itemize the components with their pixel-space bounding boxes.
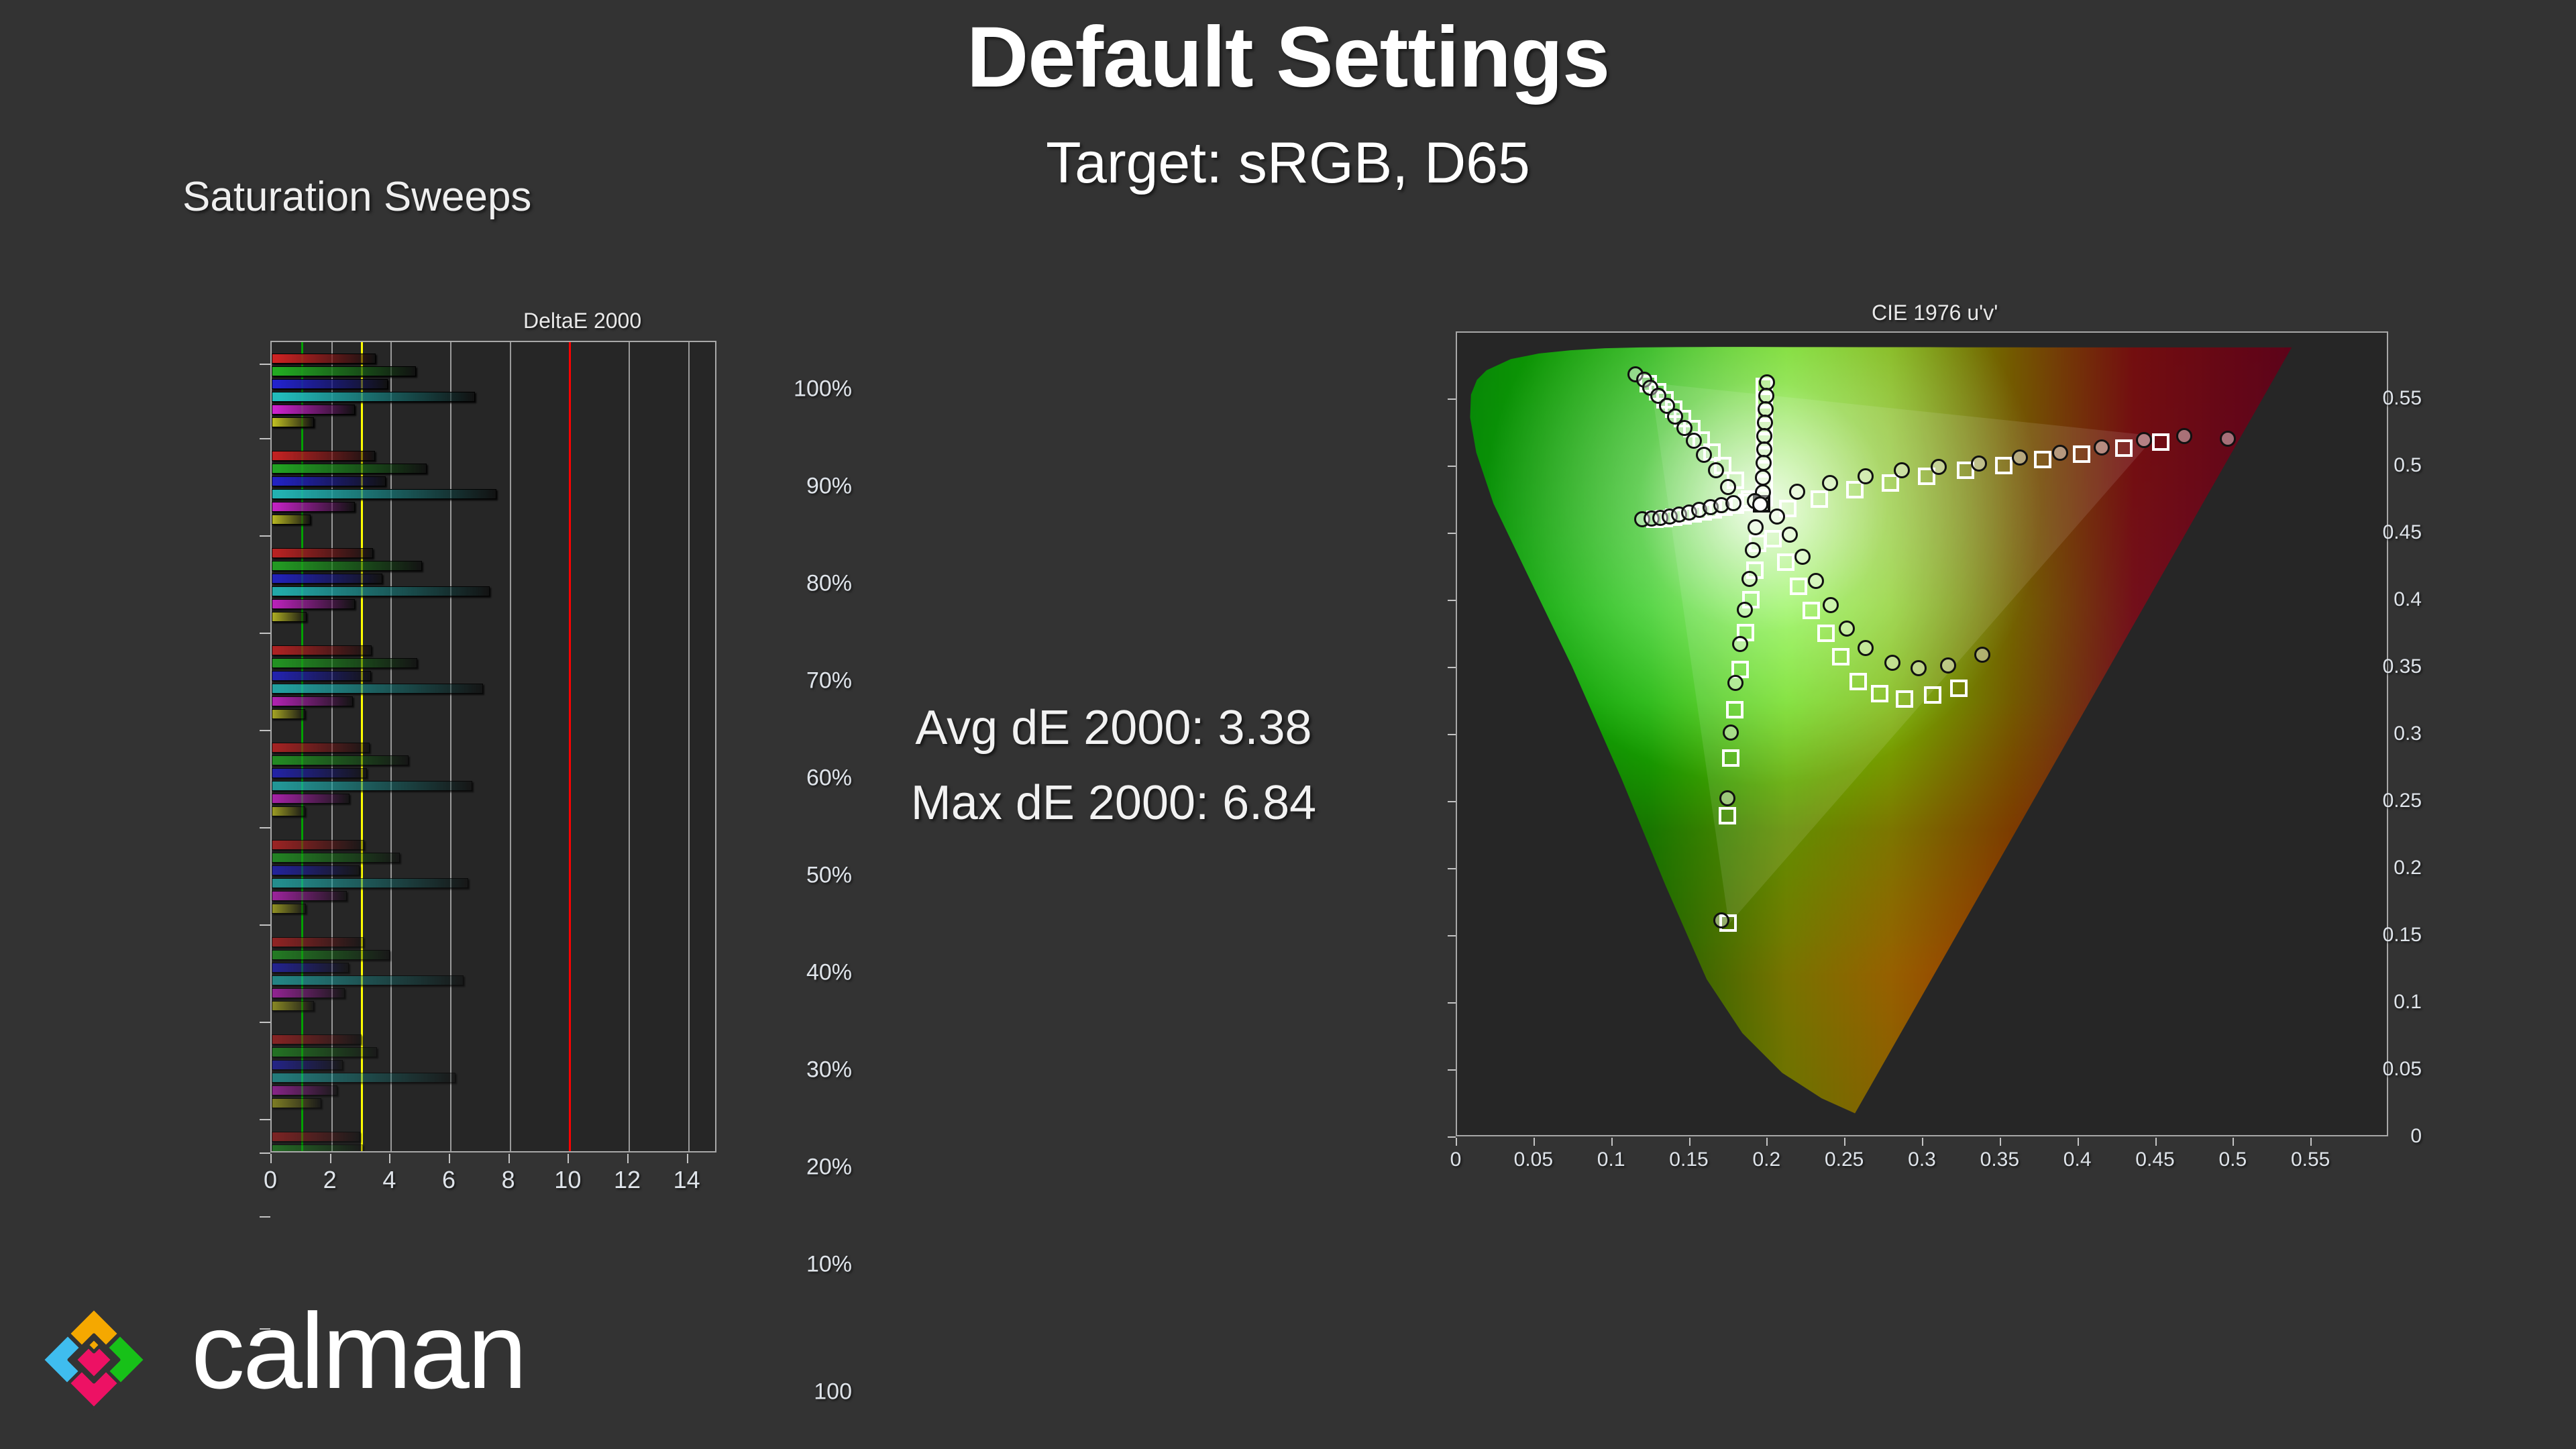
bar-fill — [272, 658, 417, 668]
cie-measured-marker — [1745, 542, 1761, 558]
x-axis-tick — [687, 1154, 688, 1163]
cie-y-label-0.35: 0.35 — [2351, 655, 2422, 678]
x-axis-tick — [389, 1154, 390, 1163]
bar-30pct-yellow — [272, 1098, 321, 1108]
bar-30pct-cyan — [272, 1073, 455, 1083]
cie-measured-marker — [1822, 475, 1838, 491]
bar-90pct-magenta — [272, 502, 355, 512]
bar-80pct-red — [272, 548, 373, 558]
cie-measured-marker — [1971, 455, 1987, 472]
y-axis-label-100: 100 — [773, 1379, 852, 1405]
bar-fill — [272, 1034, 362, 1044]
y-axis-tick — [260, 1119, 270, 1120]
cie-x-label-0.5: 0.5 — [2218, 1148, 2247, 1171]
bar-fill — [272, 417, 314, 427]
bar-80pct-magenta — [272, 599, 355, 609]
cie-y-tick — [1448, 734, 1456, 735]
bar-fill — [272, 853, 400, 863]
page-title: Default Settings — [0, 15, 2576, 101]
cie-measured-marker — [1719, 790, 1735, 806]
bar-80pct-blue — [272, 574, 382, 584]
bar-60pct-cyan — [272, 781, 472, 791]
bar-fill — [272, 768, 367, 778]
bar-30pct-blue — [272, 1060, 343, 1070]
bar-90pct-green — [272, 464, 427, 474]
bar-40pct-yellow — [272, 1001, 314, 1011]
bar-fill — [272, 1060, 343, 1070]
cie-measured-marker — [1713, 912, 1729, 928]
bar-60pct-yellow — [272, 806, 305, 816]
bar-fill — [272, 671, 371, 681]
cie-target-marker — [2115, 439, 2133, 457]
cie-x-label-0.2: 0.2 — [1752, 1148, 1780, 1171]
cie-y-label-0.3: 0.3 — [2351, 722, 2422, 745]
cie-measured-marker — [1808, 573, 1824, 589]
bar-50pct-yellow — [272, 904, 306, 914]
bar-fill — [272, 743, 370, 753]
bar-70pct-magenta — [272, 696, 353, 706]
cie-measured-marker — [1756, 455, 1772, 471]
cie-measured-marker — [1974, 647, 1990, 663]
bar-fill — [272, 574, 382, 584]
bar-70pct-cyan — [272, 684, 483, 694]
bar-70pct-red — [272, 645, 372, 655]
bar-fill — [272, 548, 373, 558]
cie-y-label-0.05: 0.05 — [2351, 1058, 2422, 1081]
y-axis-tick — [260, 364, 270, 365]
cie-x-label-0: 0 — [1450, 1148, 1462, 1171]
bar-fill — [272, 794, 350, 804]
cie-measured-marker — [1782, 527, 1798, 543]
cie-y-tick — [1448, 868, 1456, 869]
bar-fill — [272, 599, 355, 609]
cie-measured-marker — [2052, 445, 2068, 461]
bar-fill — [272, 975, 464, 985]
cie-measured-marker — [1686, 433, 1702, 449]
bar-30pct-magenta — [272, 1085, 337, 1095]
y-axis-tick — [260, 924, 270, 926]
y-axis-label-10pct: 10% — [773, 1252, 852, 1278]
cie-target-marker — [1849, 673, 1867, 690]
bar-fill — [272, 1144, 363, 1152]
cie-y-tick — [1448, 466, 1456, 467]
bar-fill — [272, 891, 347, 901]
bar-100pct-magenta — [272, 405, 355, 415]
cie-chart-title: CIE 1976 u'v' — [1872, 301, 1998, 325]
gridline — [688, 342, 690, 1151]
x-axis-label-14: 14 — [674, 1166, 700, 1194]
cie-x-tick — [2233, 1138, 2234, 1146]
bar-fill — [272, 561, 422, 571]
cie-x-tick — [2078, 1138, 2079, 1146]
cie-target-marker — [1846, 481, 1864, 498]
cie-target-marker — [1995, 457, 2012, 474]
cie-y-tick — [1448, 533, 1456, 534]
bar-fill — [272, 586, 490, 596]
cie-y-label-0.55: 0.55 — [2351, 387, 2422, 410]
max-de-2000: Max dE 2000: 6.84 — [859, 766, 1368, 841]
bar-100pct-cyan — [272, 392, 475, 402]
cie-target-marker — [1777, 553, 1794, 571]
cie-measured-marker — [1911, 660, 1927, 676]
cie-target-marker — [1832, 648, 1849, 665]
x-axis-tick — [627, 1154, 629, 1163]
bar-fill — [272, 489, 496, 499]
bar-90pct-blue — [272, 476, 386, 486]
bar-fill — [272, 950, 390, 960]
bar-fill — [272, 392, 475, 402]
bar-fill — [272, 645, 372, 655]
bar-fill — [272, 696, 353, 706]
bar-fill — [272, 904, 306, 914]
cie-x-label-0.55: 0.55 — [2291, 1148, 2330, 1171]
cie-measured-marker — [1696, 447, 1712, 463]
bar-40pct-blue — [272, 963, 349, 973]
x-axis-tick — [449, 1154, 450, 1163]
cie-gamut-horseshoe — [1457, 333, 2387, 1136]
cie-measured-marker — [1725, 495, 1741, 511]
cie-target-marker — [1803, 602, 1820, 619]
y-axis-label-40pct: 40% — [773, 960, 852, 986]
bar-100pct-blue — [272, 379, 388, 389]
cie-target-marker — [1764, 530, 1782, 547]
cie-x-label-0.05: 0.05 — [1514, 1148, 1553, 1171]
cie-target-marker — [1719, 807, 1736, 824]
bar-50pct-green — [272, 853, 400, 863]
cie-target-marker — [2152, 433, 2169, 451]
bar-70pct-yellow — [272, 709, 305, 719]
cie-y-label-0.5: 0.5 — [2351, 454, 2422, 477]
cie-target-marker — [1896, 690, 1913, 708]
y-axis-tick — [260, 1022, 270, 1023]
bar-40pct-red — [272, 937, 364, 947]
cie-measured-marker — [2136, 432, 2152, 448]
bar-60pct-blue — [272, 768, 367, 778]
bar-fill — [272, 405, 355, 415]
bar-80pct-cyan — [272, 586, 490, 596]
cie-1976-chart: CIE 1976 u'v' 00.050.10.150.20.250.30.35… — [1375, 301, 2422, 1213]
avg-de-2000: Avg dE 2000: 3.38 — [859, 691, 1368, 766]
cie-target-marker — [1924, 686, 1941, 704]
cie-y-label-0.45: 0.45 — [2351, 521, 2422, 544]
bar-fill — [272, 963, 349, 973]
bar-fill — [272, 1073, 455, 1083]
cie-measured-marker — [2176, 428, 2192, 444]
delta-e-summary: Avg dE 2000: 3.38 Max dE 2000: 6.84 — [859, 691, 1368, 841]
cie-measured-marker — [1720, 479, 1736, 495]
bar-30pct-red — [272, 1034, 362, 1044]
x-axis-label-10: 10 — [554, 1166, 581, 1194]
cie-target-marker — [1726, 701, 1743, 718]
cie-measured-marker — [1858, 640, 1874, 656]
cie-y-tick — [1448, 667, 1456, 668]
deltae-plot-area — [270, 341, 716, 1152]
bar-fill — [272, 612, 307, 622]
bar-fill — [272, 1132, 360, 1142]
bar-20pct-green — [272, 1144, 363, 1152]
bar-50pct-blue — [272, 865, 360, 875]
bar-90pct-yellow — [272, 515, 311, 525]
calman-wordmark: calman — [191, 1297, 525, 1405]
bar-fill — [272, 878, 468, 888]
bar-fill — [272, 1047, 377, 1057]
bar-60pct-green — [272, 755, 409, 765]
bar-90pct-cyan — [272, 489, 496, 499]
cie-measured-marker — [2012, 449, 2028, 466]
bar-fill — [272, 806, 305, 816]
cie-measured-marker — [1732, 636, 1748, 652]
x-axis-label-4: 4 — [382, 1166, 396, 1194]
cie-target-marker — [1871, 685, 1888, 702]
bar-100pct-green — [272, 366, 416, 376]
cie-measured-marker — [2094, 439, 2110, 455]
reference-line-10 — [569, 342, 571, 1151]
cie-measured-marker — [1794, 549, 1811, 565]
saturation-sweeps-heading: Saturation Sweeps — [182, 173, 531, 221]
y-axis-tick — [260, 633, 270, 634]
cie-y-tick — [1448, 600, 1456, 601]
cie-y-tick — [1448, 1136, 1456, 1138]
cie-y-label-0.15: 0.15 — [2351, 924, 2422, 947]
bar-fill — [272, 515, 311, 525]
cie-x-tick — [1766, 1138, 1768, 1146]
calman-diamond-icon — [34, 1301, 154, 1415]
cie-x-tick — [2310, 1138, 2312, 1146]
cie-measured-marker — [1741, 571, 1758, 587]
bar-fill — [272, 755, 409, 765]
cie-y-label-0.1: 0.1 — [2351, 991, 2422, 1014]
cie-measured-marker — [1884, 655, 1900, 671]
y-axis-tick — [260, 827, 270, 828]
cie-y-tick — [1448, 1002, 1456, 1004]
bar-50pct-cyan — [272, 878, 468, 888]
bar-fill — [272, 840, 364, 850]
bar-30pct-green — [272, 1047, 377, 1057]
cie-target-marker — [1811, 490, 1828, 508]
bar-100pct-yellow — [272, 417, 314, 427]
cie-measured-marker — [1723, 724, 1739, 741]
cie-y-tick — [1448, 398, 1456, 400]
cie-target-marker — [1817, 625, 1835, 642]
bar-fill — [272, 865, 360, 875]
y-axis-tick — [260, 535, 270, 537]
x-axis-label-0: 0 — [264, 1166, 277, 1194]
gridline — [510, 342, 511, 1151]
cie-x-tick — [1534, 1138, 1535, 1146]
cie-measured-marker — [1708, 462, 1724, 478]
cie-measured-marker — [1839, 621, 1855, 637]
y-axis-label-100pct: 100% — [773, 376, 852, 402]
y-axis-label-80pct: 80% — [773, 571, 852, 597]
y-axis-tick — [260, 438, 270, 439]
y-axis-label-50pct: 50% — [773, 863, 852, 889]
cie-measured-marker — [1823, 597, 1839, 613]
cie-measured-marker — [1894, 462, 1910, 478]
cie-x-tick — [2155, 1138, 2157, 1146]
bar-fill — [272, 781, 472, 791]
bar-70pct-blue — [272, 671, 371, 681]
cie-x-label-0.45: 0.45 — [2135, 1148, 2174, 1171]
cie-x-label-0.3: 0.3 — [1908, 1148, 1936, 1171]
cie-measured-marker — [1748, 519, 1764, 535]
cie-y-label-0.25: 0.25 — [2351, 790, 2422, 812]
cie-measured-marker — [1858, 468, 1874, 484]
bar-fill — [272, 1001, 314, 1011]
deltae-bar-chart: DeltaE 2000 100%90%80%70%60%50%40%30%20%… — [181, 309, 852, 1207]
bar-50pct-red — [272, 840, 364, 850]
cie-x-tick — [1611, 1138, 1613, 1146]
cie-y-tick — [1448, 801, 1456, 802]
bar-50pct-magenta — [272, 891, 347, 901]
cie-measured-marker — [2220, 431, 2236, 447]
y-axis-tick — [260, 1152, 270, 1154]
y-axis-label-20pct: 20% — [773, 1155, 852, 1181]
bar-fill — [272, 379, 388, 389]
x-axis-label-8: 8 — [502, 1166, 515, 1194]
cie-measured-marker — [1755, 470, 1771, 486]
bar-40pct-magenta — [272, 988, 345, 998]
bar-20pct-red — [272, 1132, 360, 1142]
y-axis-label-60pct: 60% — [773, 765, 852, 792]
cie-measured-marker — [1727, 675, 1743, 691]
bar-fill — [272, 354, 376, 364]
cie-measured-marker — [1940, 657, 1956, 674]
cie-x-tick — [1844, 1138, 1845, 1146]
cie-y-tick — [1448, 935, 1456, 936]
cie-measured-marker — [1789, 484, 1805, 500]
cie-x-label-0.25: 0.25 — [1825, 1148, 1864, 1171]
x-axis-label-2: 2 — [323, 1166, 337, 1194]
cie-measured-marker — [1769, 508, 1785, 525]
cie-measured-marker — [1931, 459, 1947, 475]
y-axis-tick — [260, 730, 270, 731]
y-axis-label-90pct: 90% — [773, 474, 852, 500]
cie-x-label-0.4: 0.4 — [2063, 1148, 2092, 1171]
bar-fill — [272, 1098, 321, 1108]
bar-60pct-magenta — [272, 794, 350, 804]
cie-x-tick — [1456, 1138, 1457, 1146]
cie-target-marker — [1722, 749, 1739, 767]
bar-fill — [272, 709, 305, 719]
bar-100pct-red — [272, 354, 376, 364]
cie-measured-marker — [1737, 602, 1753, 618]
x-axis-tick — [330, 1154, 331, 1163]
bar-fill — [272, 476, 386, 486]
cie-y-tick — [1448, 1069, 1456, 1071]
cie-y-label-0.4: 0.4 — [2351, 588, 2422, 611]
bar-70pct-green — [272, 658, 417, 668]
x-axis-tick — [568, 1154, 569, 1163]
bar-80pct-yellow — [272, 612, 307, 622]
bar-40pct-cyan — [272, 975, 464, 985]
cie-y-label-0: 0 — [2351, 1125, 2422, 1148]
bar-fill — [272, 366, 416, 376]
bar-fill — [272, 684, 483, 694]
bar-80pct-green — [272, 561, 422, 571]
bar-90pct-red — [272, 451, 375, 461]
cie-x-label-0.15: 0.15 — [1669, 1148, 1708, 1171]
bar-fill — [272, 1085, 337, 1095]
x-axis-label-6: 6 — [442, 1166, 455, 1194]
x-axis-tick — [270, 1154, 272, 1163]
cie-x-label-0.1: 0.1 — [1597, 1148, 1625, 1171]
gridline — [450, 342, 451, 1151]
gridline — [629, 342, 630, 1151]
x-axis-tick — [508, 1154, 510, 1163]
bar-fill — [272, 451, 375, 461]
bar-fill — [272, 464, 427, 474]
deltae-chart-title: DeltaE 2000 — [523, 309, 641, 333]
cie-x-tick — [1689, 1138, 1690, 1146]
bar-fill — [272, 937, 364, 947]
bar-40pct-green — [272, 950, 390, 960]
y-axis-tick — [260, 1216, 270, 1218]
cie-x-tick — [2000, 1138, 2001, 1146]
cie-x-tick — [1922, 1138, 1923, 1146]
cie-plot-area — [1456, 331, 2388, 1136]
cie-x-label-0.35: 0.35 — [1980, 1148, 2019, 1171]
bar-fill — [272, 988, 345, 998]
cie-white-point-marker — [1752, 496, 1768, 513]
y-axis-label-30pct: 30% — [773, 1057, 852, 1083]
bar-60pct-red — [272, 743, 370, 753]
x-axis-label-12: 12 — [614, 1166, 641, 1194]
cie-y-label-0.2: 0.2 — [2351, 857, 2422, 879]
y-axis-label-70pct: 70% — [773, 668, 852, 694]
cie-target-marker — [1790, 578, 1807, 595]
cie-target-marker — [2034, 451, 2051, 468]
bar-fill — [272, 502, 355, 512]
report-canvas: Default Settings Target: sRGB, D65 Satur… — [0, 0, 2576, 1449]
cie-target-marker — [2073, 445, 2090, 463]
cie-target-marker — [1950, 680, 1968, 697]
